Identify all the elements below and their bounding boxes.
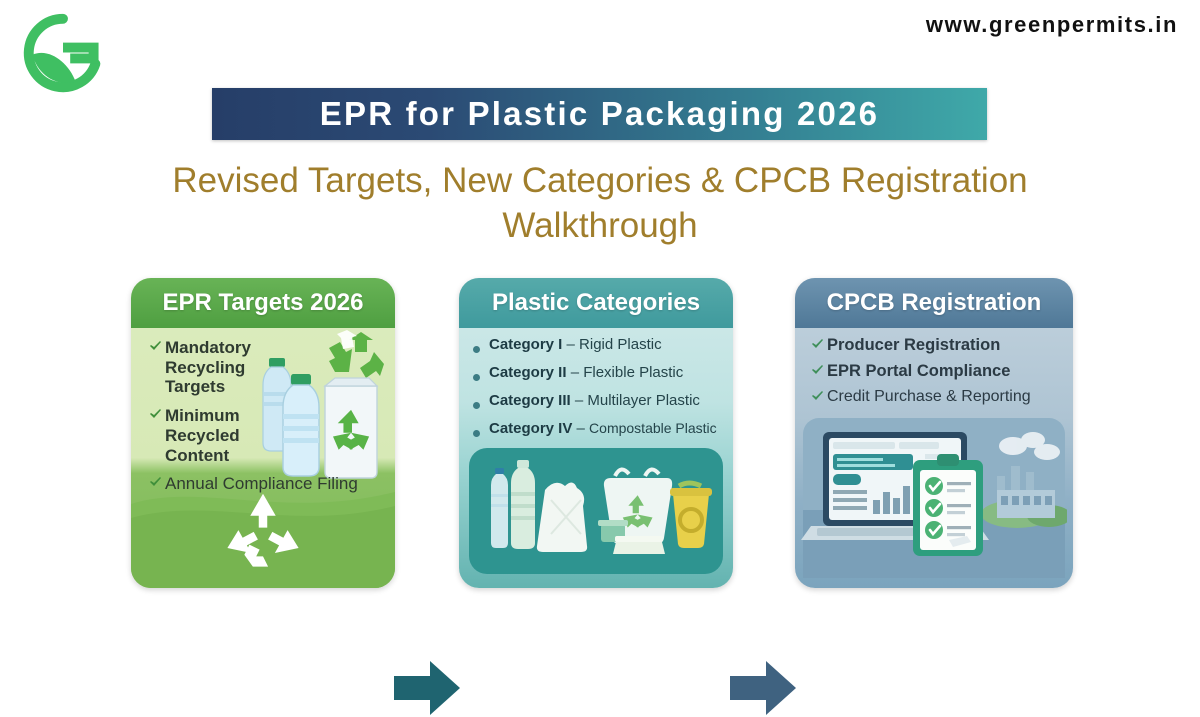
dot-icon <box>473 392 489 413</box>
category-label: Category III <box>489 392 571 409</box>
check-icon <box>149 338 165 352</box>
card-plastic-categories[interactable]: Plastic Categories Category I – Rigid Pl… <box>459 278 733 588</box>
bullet-item: Producer Registration <box>811 336 1067 355</box>
bullet-item: Category II – Flexible Plastic <box>473 364 727 385</box>
category-sep: – <box>567 364 584 381</box>
site-url[interactable]: www.greenpermits.in <box>926 12 1178 38</box>
bullet-item: Category IV – Compostable Plastic <box>473 420 727 441</box>
category-desc: Flexible Plastic <box>583 364 683 381</box>
recycle-symbol-icon <box>220 492 306 570</box>
category-label: Category II <box>489 364 567 381</box>
card-epr-targets-bullets: Mandatory Recycling Targets Minimum Recy… <box>149 338 387 503</box>
card-plastic-categories-bullets: Category I – Rigid Plastic Category II –… <box>473 336 727 448</box>
category-sep: – <box>572 420 589 437</box>
category-label: Category I <box>489 336 562 353</box>
bullet-label: Category III – Multilayer Plastic <box>489 392 700 409</box>
category-desc: Multilayer Plastic <box>587 392 700 409</box>
plastic-items-illustration <box>467 442 725 580</box>
category-sep: – <box>571 392 588 409</box>
dot-icon <box>473 364 489 385</box>
bullet-item: Category I – Rigid Plastic <box>473 336 727 357</box>
card-cpcb-registration-bullets: Producer Registration EPR Portal Complia… <box>811 336 1067 414</box>
dot-icon <box>473 336 489 357</box>
arrow-card2-to-card3-icon <box>730 659 796 717</box>
arrow-card1-to-card2-icon <box>394 659 460 717</box>
banner-title: EPR for Plastic Packaging 2026 <box>212 88 987 140</box>
brand-logo <box>18 8 108 98</box>
card-epr-targets-title: EPR Targets 2026 <box>163 289 364 317</box>
card-plastic-categories-title: Plastic Categories <box>492 289 700 317</box>
bullet-label: Mandatory Recycling Targets <box>165 338 289 397</box>
check-icon <box>149 406 165 420</box>
card-cpcb-registration-header: CPCB Registration <box>795 278 1073 328</box>
dot-icon <box>473 420 489 441</box>
banner-title-text: EPR for Plastic Packaging 2026 <box>320 95 879 133</box>
bullet-label: Producer Registration <box>827 336 1000 355</box>
cpcb-registration-illustration <box>801 414 1067 582</box>
bullet-item: Mandatory Recycling Targets <box>149 338 387 397</box>
bullet-item: Credit Purchase & Reporting <box>811 388 1067 407</box>
category-sep: – <box>562 336 579 353</box>
category-desc: Rigid Plastic <box>579 336 662 353</box>
bullet-label: Annual Compliance Filing <box>165 474 358 494</box>
category-desc: Compostable Plastic <box>589 420 717 436</box>
flow-cards-row: EPR Targets 2026 Mandatory Recycling Tar… <box>0 278 1200 590</box>
bullet-item: Minimum Recycled Content <box>149 406 387 465</box>
check-icon <box>811 336 827 350</box>
bullet-label: Category IV – Compostable Plastic <box>489 420 717 437</box>
check-icon <box>811 362 827 376</box>
category-label: Category IV <box>489 420 572 437</box>
card-plastic-categories-header: Plastic Categories <box>459 278 733 328</box>
bullet-label: Category I – Rigid Plastic <box>489 336 662 353</box>
bullet-item: EPR Portal Compliance <box>811 362 1067 381</box>
card-epr-targets-header: EPR Targets 2026 <box>131 278 395 328</box>
bullet-item: Annual Compliance Filing <box>149 474 387 494</box>
bullet-label: Credit Purchase & Reporting <box>827 388 1031 407</box>
bullet-label: EPR Portal Compliance <box>827 362 1010 381</box>
check-icon <box>149 474 165 488</box>
card-cpcb-registration[interactable]: CPCB Registration Producer Registration … <box>795 278 1073 588</box>
bullet-label: Minimum Recycled Content <box>165 406 289 465</box>
check-icon <box>811 388 827 402</box>
card-cpcb-registration-title: CPCB Registration <box>827 289 1042 317</box>
bullet-label: Category II – Flexible Plastic <box>489 364 683 381</box>
card-epr-targets[interactable]: EPR Targets 2026 Mandatory Recycling Tar… <box>131 278 395 588</box>
page-subtitle: Revised Targets, New Categories & CPCB R… <box>100 158 1100 248</box>
bullet-item: Category III – Multilayer Plastic <box>473 392 727 413</box>
